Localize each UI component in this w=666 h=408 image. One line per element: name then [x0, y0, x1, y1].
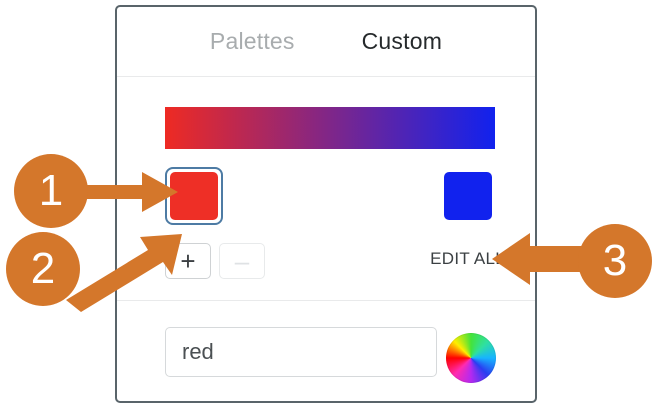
callout-badge-3: 3: [578, 224, 652, 298]
color-name-row: [117, 327, 535, 379]
color-swatch-blue[interactable]: [439, 167, 497, 225]
divider-under-tabs: [117, 76, 535, 77]
color-swatch-blue-fill: [444, 172, 492, 220]
callout-badge-1: 1: [14, 154, 88, 228]
color-wheel-icon[interactable]: [446, 333, 496, 383]
color-name-input[interactable]: [165, 327, 437, 377]
tab-custom[interactable]: Custom: [356, 28, 448, 55]
tab-palettes[interactable]: Palettes: [204, 28, 301, 55]
callout-arrow-2: [62, 228, 186, 306]
gradient-preview-bar: [165, 107, 495, 149]
tab-bar: Palettes Custom: [117, 7, 535, 76]
callout-badge-2: 2: [6, 232, 80, 306]
minus-icon: –: [235, 248, 249, 274]
remove-color-button[interactable]: –: [219, 243, 265, 279]
callout-arrow-3: [488, 228, 592, 290]
callout-arrow-1: [80, 170, 180, 214]
